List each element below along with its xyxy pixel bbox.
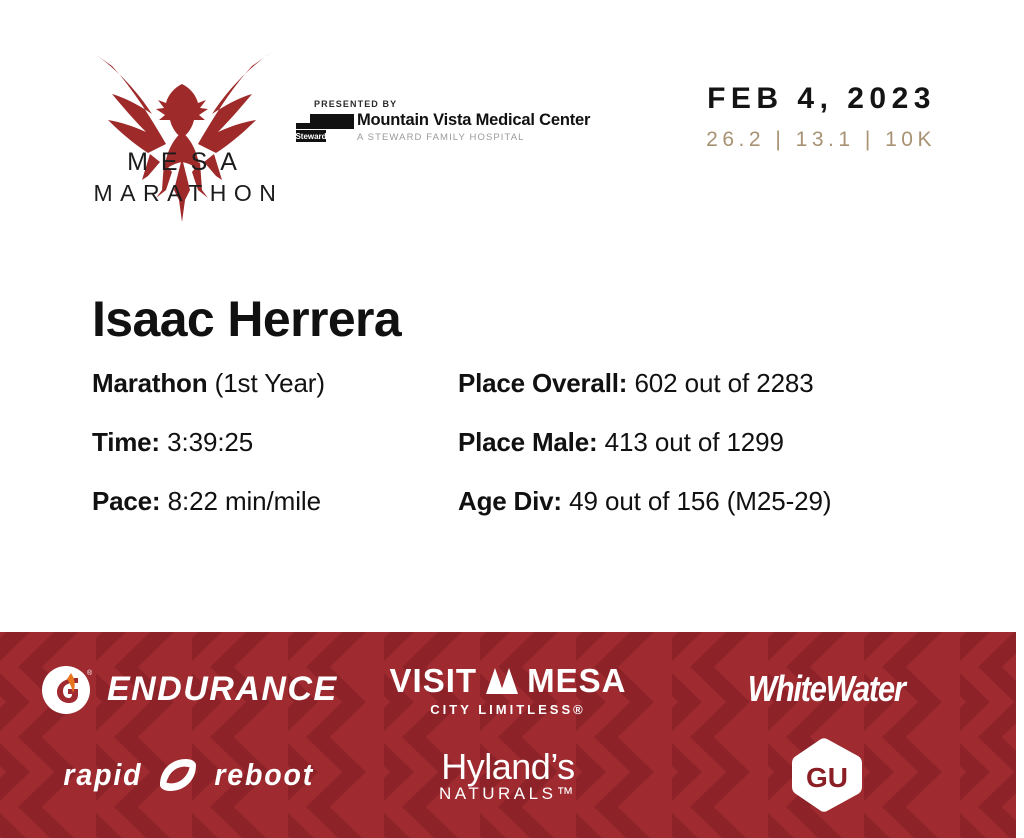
gatorade-g-icon: ® [41,661,95,717]
presenter-name: Mountain Vista Medical Center [357,112,590,129]
runner-name: Isaac Herrera [92,290,401,348]
gatorade-endurance-wordmark: ENDURANCE [107,670,338,709]
result-row-place-overall: Place Overall: 602 out of 2283 [458,370,831,429]
gu-wordmark: GU [806,762,848,793]
event-date: FEB 4, 2023 [706,82,936,116]
race-result-certificate: MESA MARATHON PRESENTED BY Steward Mount… [0,0,1024,838]
result-row-place-male: Place Male: 413 out of 1299 [458,429,831,488]
result-label: Pace: [92,486,160,516]
reboot-swoosh-icon [156,755,200,795]
result-label: Time: [92,427,160,457]
result-value: 413 out of 1299 [605,427,784,457]
result-row-pace: Pace: 8:22 min/mile [92,488,325,547]
sponsor-rapid-reboot: rapid reboot [30,732,349,818]
sponsor-hylands: Hyland’s NATURALS™ [349,732,668,818]
svg-text:Steward: Steward [296,132,327,141]
hylands-tagline: NATURALS™ [439,784,577,804]
sponsor-visit-mesa: VISIT MESA CITY LIMITLESS® [349,646,668,732]
results-column-right: Place Overall: 602 out of 2283 Place Mal… [458,370,831,547]
visit-mesa-word-visit: VISIT [390,662,478,700]
mesa-marathon-logo: MESA MARATHON [86,40,278,222]
result-value: 49 out of 156 (M25-29) [569,486,831,516]
hylands-wordmark: Hyland’s [439,746,577,788]
presented-by-label: PRESENTED BY [314,99,562,109]
result-value: 602 out of 2283 [634,368,813,398]
svg-text:®: ® [87,669,93,677]
gu-hexagon-icon: GU [790,737,864,813]
whitewater-wordmark: WhiteWater [748,668,905,710]
certificate-header: MESA MARATHON PRESENTED BY Steward Mount… [0,0,1024,232]
sponsor-whitewater: WhiteWater [667,646,986,732]
rapid-reboot-word-rapid: rapid [64,757,143,793]
result-row-time: Time: 3:39:25 [92,429,325,488]
presenter-subtitle: A STEWARD FAMILY HOSPITAL [357,132,590,143]
result-value: 3:39:25 [167,427,253,457]
visit-mesa-word-mesa: MESA [527,662,626,700]
result-value: (1st Year) [215,368,325,398]
rapid-reboot-word-reboot: reboot [214,757,314,793]
event-distances: 26.2 | 13.1 | 10K [706,128,936,152]
result-row-age-div: Age Div: 49 out of 156 (M25-29) [458,488,831,547]
mesa-mountains-icon [484,666,520,696]
logo-word-marathon: MARATHON [86,180,278,207]
result-label: Age Div: [458,486,562,516]
steward-logo-icon: Steward [296,114,354,144]
result-label: Marathon [92,368,207,398]
visit-mesa-tagline: CITY LIMITLESS® [390,702,627,717]
sponsor-logo-grid: ® ENDURANCE VISIT MESA CITY LIMITLESS® [0,632,1016,838]
presenting-sponsor: PRESENTED BY Steward Mountain Vista Medi… [296,99,562,153]
result-value: 8:22 min/mile [168,486,321,516]
result-label: Place Male: [458,427,597,457]
sponsor-gu-energy: GU [667,732,986,818]
sponsor-gatorade-endurance: ® ENDURANCE [30,646,349,732]
result-row-event: Marathon (1st Year) [92,370,325,429]
logo-word-mesa: MESA [86,148,278,177]
event-date-block: FEB 4, 2023 26.2 | 13.1 | 10K [706,82,936,152]
result-label: Place Overall: [458,368,627,398]
sponsor-footer: ® ENDURANCE VISIT MESA CITY LIMITLESS® [0,632,1016,838]
results-column-left: Marathon (1st Year) Time: 3:39:25 Pace: … [92,370,325,547]
